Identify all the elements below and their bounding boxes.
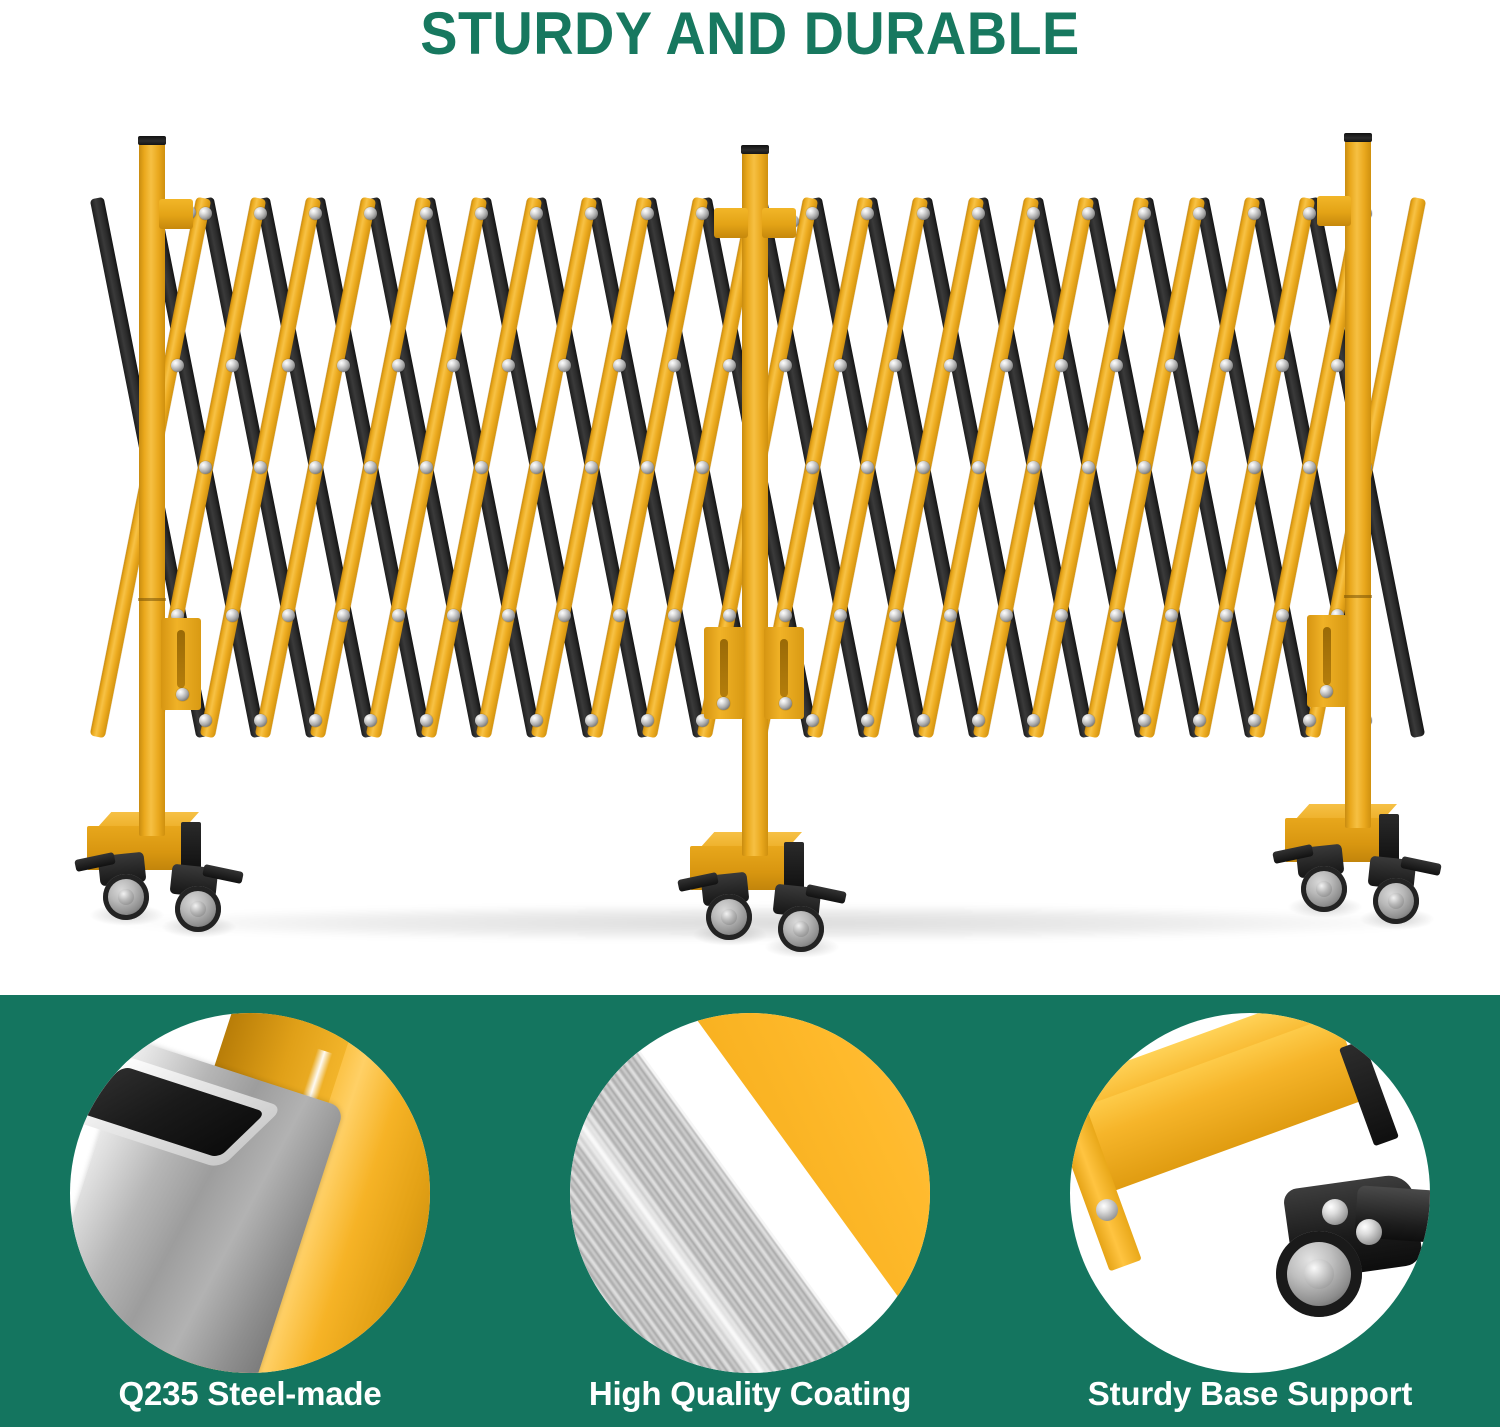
lattice-rivet (1082, 714, 1095, 727)
lattice-rivet (502, 359, 515, 372)
lattice-rivet (834, 609, 847, 622)
lattice-rivet (392, 359, 405, 372)
lattice-rivet (1165, 359, 1178, 372)
lattice-rivet (309, 207, 322, 220)
lattice-rivet (641, 207, 654, 220)
lattice-rivet (1138, 461, 1151, 474)
lattice-rivet (1193, 207, 1206, 220)
lattice-rivet (282, 359, 295, 372)
lattice-rivet (1303, 207, 1316, 220)
lattice-rivet (585, 207, 598, 220)
lattice-rivet (1027, 714, 1040, 727)
lattice-rivet (1193, 714, 1206, 727)
lattice-rivet (558, 359, 571, 372)
lattice-rivet (834, 359, 847, 372)
lattice-rivet (1138, 714, 1151, 727)
caster-axle-hub (190, 901, 206, 917)
lattice-rivet (1000, 359, 1013, 372)
lattice-rivet (779, 359, 792, 372)
lattice-rivet (668, 609, 681, 622)
lattice-rivet (861, 461, 874, 474)
lattice-rivet (420, 714, 433, 727)
lattice-rivet (530, 207, 543, 220)
lattice-rivet (1055, 359, 1068, 372)
lattice-rivet (696, 461, 709, 474)
lattice-rivet (337, 609, 350, 622)
feature-coating: High Quality Coating (500, 995, 1000, 1427)
lattice-rivet (1027, 207, 1040, 220)
lattice-rivet (613, 609, 626, 622)
lattice-rivet (972, 207, 985, 220)
caster-wheel-assembly (772, 884, 850, 962)
slot-groove (1323, 627, 1331, 685)
post-tube (742, 152, 768, 856)
lattice-rivet (779, 609, 792, 622)
caster-hub (1304, 1259, 1334, 1289)
lattice-rivet (944, 609, 957, 622)
lattice-rivet (806, 714, 819, 727)
lattice-rivet (364, 461, 377, 474)
lattice-rivet (861, 714, 874, 727)
lattice-rivet (171, 359, 184, 372)
lattice-rivet (1331, 359, 1344, 372)
lattice-rivet (1276, 359, 1289, 372)
lattice-rivet (1303, 714, 1316, 727)
slot-groove (780, 639, 788, 697)
post-pivot-bracket (714, 208, 748, 238)
lattice-rivet (475, 207, 488, 220)
caster-wheel-assembly (169, 864, 247, 942)
lattice-rivet (502, 609, 515, 622)
lattice-rivet (558, 609, 571, 622)
post-slot-rivet (176, 688, 189, 701)
lattice-rivet (944, 359, 957, 372)
feature-base-label: Sturdy Base Support (1000, 1375, 1500, 1413)
post-tube (1345, 140, 1371, 828)
lattice-rivet (806, 207, 819, 220)
post-top-cap (741, 145, 769, 154)
lattice-rivet (364, 207, 377, 220)
caster-wheel-assembly (97, 852, 175, 930)
lattice-rivet (889, 609, 902, 622)
lattice-rivet (530, 461, 543, 474)
lattice-rivet (1027, 461, 1040, 474)
lattice-rivet (420, 461, 433, 474)
lattice-rivet (1082, 461, 1095, 474)
vertical-post-right (1345, 140, 1371, 828)
lattice-rivet (723, 609, 736, 622)
post-tube (139, 143, 165, 836)
lattice-rivet (392, 609, 405, 622)
post-pivot-bracket (159, 199, 193, 229)
feature-steel-label: Q235 Steel-made (0, 1375, 500, 1413)
lattice-rivet (282, 609, 295, 622)
feature-base: Sturdy Base Support (1000, 995, 1500, 1427)
lattice-rivet (641, 714, 654, 727)
lattice-rivet (861, 207, 874, 220)
lattice-rivet (420, 207, 433, 220)
lattice-rivet (226, 609, 239, 622)
caster-axle-hub (793, 921, 809, 937)
lattice-rivet (226, 359, 239, 372)
lattice-rivet (1055, 609, 1068, 622)
product-feature-image: STURDY AND DURABLE Q235 Steel-made (0, 0, 1500, 1427)
lattice-rivet (1082, 207, 1095, 220)
lattice-rivet (889, 359, 902, 372)
caster-axle-hub (118, 889, 134, 905)
lattice-rivet (1000, 609, 1013, 622)
lattice-rivet (972, 461, 985, 474)
post-top-cap (1344, 133, 1372, 142)
lattice-rivet (1110, 609, 1123, 622)
feature-coating-label: High Quality Coating (500, 1375, 1000, 1413)
lattice-rivet (1248, 461, 1261, 474)
post-top-cap (138, 136, 166, 145)
lattice-rivet (337, 359, 350, 372)
post-pivot-bracket (1317, 196, 1351, 226)
caster-axle-hub (721, 909, 737, 925)
lattice-rivet (585, 714, 598, 727)
lattice-rivet (1303, 461, 1316, 474)
vertical-post-left (139, 143, 165, 836)
lattice-rivet (585, 461, 598, 474)
post-slot-rivet (779, 697, 792, 710)
lattice-rivet (613, 359, 626, 372)
lattice-rivet (806, 461, 819, 474)
lattice-rivet (475, 461, 488, 474)
lattice-rivet (1165, 609, 1178, 622)
lattice-rivet (723, 359, 736, 372)
lattice-rivet (309, 461, 322, 474)
lattice-rivet (1248, 207, 1261, 220)
caster-wheel-assembly (1295, 844, 1373, 922)
lattice-rivet (1220, 359, 1233, 372)
lattice-rivet (254, 714, 267, 727)
caster-axle-hub (1388, 893, 1404, 909)
lattice-rivet (1220, 609, 1233, 622)
lattice-rivet (1193, 461, 1206, 474)
post-joint-seam (1344, 595, 1372, 598)
lattice-rivet (447, 609, 460, 622)
lattice-rivet (641, 461, 654, 474)
post-slot-rivet (1320, 685, 1333, 698)
lattice-rivet (917, 714, 930, 727)
feature-steel: Q235 Steel-made (0, 995, 500, 1427)
lattice-rivet (364, 714, 377, 727)
features-section: Q235 Steel-made High Quality Coating (0, 995, 1500, 1427)
feature-steel-image (70, 1013, 430, 1373)
lattice-rivet (1110, 359, 1123, 372)
lattice-rivet (447, 359, 460, 372)
slot-groove (720, 639, 728, 697)
lattice-rivet (696, 207, 709, 220)
post-slot-rivet (717, 697, 730, 710)
vertical-post-middle (742, 152, 768, 856)
lattice-rivet (1276, 609, 1289, 622)
feature-coating-image (570, 1013, 930, 1373)
lattice-rivet (199, 461, 212, 474)
product-photo (0, 0, 1500, 995)
lattice-rivet (1138, 207, 1151, 220)
lattice-rivet (199, 207, 212, 220)
caster-wheel-assembly (1367, 856, 1445, 934)
post-joint-seam (138, 598, 166, 601)
lattice-rivet (668, 359, 681, 372)
caster-axle-hub (1316, 881, 1332, 897)
lattice-rivet (530, 714, 543, 727)
caster-wheel-assembly (700, 872, 778, 950)
base-screw (1096, 1199, 1118, 1221)
lattice-rivet (254, 461, 267, 474)
caster-bolt-1 (1322, 1199, 1348, 1225)
lattice-rivet (917, 207, 930, 220)
lattice-rivet (972, 714, 985, 727)
feature-base-image (1070, 1013, 1430, 1373)
lattice-rivet (1248, 714, 1261, 727)
lattice-rivet (917, 461, 930, 474)
lattice-rivet (475, 714, 488, 727)
lattice-rivet (309, 714, 322, 727)
hero-section: STURDY AND DURABLE (0, 0, 1500, 995)
lattice-rivet (199, 714, 212, 727)
lattice-rivet (254, 207, 267, 220)
slot-groove (177, 630, 185, 688)
caster-bolt-2 (1356, 1219, 1382, 1245)
post-pivot-bracket (762, 208, 796, 238)
